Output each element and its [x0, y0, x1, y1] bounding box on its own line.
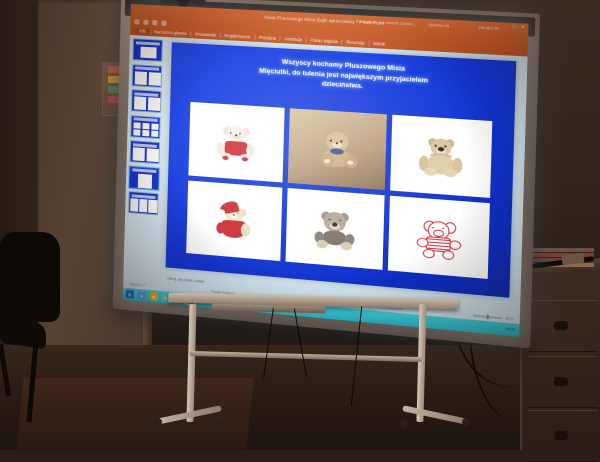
thumb-cell [138, 173, 152, 188]
interactive-whiteboard[interactable]: Swiat Pluszowego Misia Bajki opracowany … [123, 2, 529, 339]
editor-body: Wszyscy kochamy Pluszowego Misia Mięciut… [123, 35, 527, 316]
slide-title[interactable]: Wszyscy kochamy Pluszowego Misia Mięciut… [194, 53, 498, 100]
slide-image-bear-drawing-striped[interactable] [388, 195, 490, 279]
whiteboard-stand [150, 296, 480, 448]
slide-thumb-2[interactable] [132, 64, 163, 88]
thumb-cell [134, 96, 146, 110]
projected-screen[interactable]: Swiat Pluszowego Misia Bajki opracowany … [123, 4, 529, 337]
chair-leg [27, 342, 39, 422]
slide-thumb-3[interactable] [131, 89, 162, 113]
drawer-knob-icon [554, 321, 568, 330]
slide-thumb-6[interactable] [129, 166, 160, 190]
thumb-cell [133, 129, 140, 135]
notes-placeholder[interactable]: Kliknij, aby dodac notatki [167, 277, 204, 284]
slide-image-bear-tan-scarf[interactable] [390, 115, 493, 198]
start-windows-icon[interactable]: ⊞ [126, 290, 134, 299]
caster-wheel [216, 420, 224, 428]
chair-leg [0, 344, 11, 396]
ribbon-tab-wstawianie[interactable]: Wstawianie [191, 31, 221, 38]
slide-thumb-5[interactable] [130, 140, 161, 164]
thumb-cell [142, 122, 149, 128]
office-chair [0, 232, 62, 422]
browser-icon[interactable]: ● [138, 291, 146, 300]
thumb-title-bar [136, 41, 160, 45]
thumb-cell [139, 199, 147, 213]
ribbon-tab-przejscia[interactable]: Przejscia [255, 34, 281, 40]
power-cable [294, 308, 307, 377]
caster-wheel [154, 418, 162, 426]
zoom-level: 66% [506, 316, 514, 321]
slide-counter: Slajd 6 z 7 [129, 282, 145, 287]
stand-leg-left [186, 304, 196, 422]
caster-wheel [462, 418, 470, 426]
room-scene: Swiat Pluszowego Misia Bajki opracowany … [0, 0, 600, 450]
slide-image-bear-santa-hat[interactable] [186, 180, 283, 261]
ribbon-tab-recenzja[interactable]: Recenzja [343, 39, 370, 46]
thumb-title-bar [132, 168, 156, 173]
close-icon[interactable]: ✕ [520, 25, 525, 31]
ribbon-tab-animacje[interactable]: Animacje [281, 35, 307, 42]
power-cable [263, 308, 274, 377]
tell-me-search[interactable]: Powiedz mi, co chcesz zrobic... [356, 18, 416, 26]
slide-stage[interactable]: Wszyscy kochamy Pluszowego Misia Mięciut… [159, 37, 527, 316]
slide-image-bear-white-red-shirt[interactable] [188, 102, 285, 182]
slide-thumb-7[interactable] [128, 191, 159, 215]
slide-thumb-1[interactable] [132, 38, 163, 62]
stand-crossbar [190, 351, 422, 362]
ribbon-tab-pokaz-slajdow[interactable]: Pokaz slajdow [307, 37, 343, 44]
taskbar-clock: 19:42 [506, 327, 516, 332]
redo-icon[interactable] [152, 20, 157, 25]
drawer-knob-icon [554, 377, 568, 386]
thumb-cell [130, 198, 138, 212]
caster-wheel [400, 420, 408, 428]
ribbon-tab-narzedzia-glowne[interactable]: Narzedzia glowne [151, 29, 192, 36]
thumb-cell [133, 122, 140, 128]
thumb-cell [140, 47, 156, 59]
present-icon[interactable] [161, 20, 166, 25]
window-controls[interactable]: − □ ✕ [505, 25, 525, 31]
slide-image-grid [186, 102, 493, 279]
thumb-cell [151, 123, 158, 129]
ribbon-tab-plik[interactable]: Plik [135, 28, 151, 34]
stand-leg-right [416, 304, 426, 422]
minimize-icon[interactable]: − [505, 25, 508, 30]
ribbon-tab-projektowanie[interactable]: Projektowanie [221, 32, 256, 39]
thumb-cell [149, 72, 161, 86]
account-sign-in[interactable]: Zaloguj sie [478, 24, 499, 30]
undo-icon[interactable] [143, 19, 148, 24]
current-slide[interactable]: Wszyscy kochamy Pluszowego Misia Mięciut… [166, 42, 517, 297]
share-button[interactable]: Udostepnij [428, 22, 449, 28]
slide-title-line-3: dzieciństwa. [322, 80, 363, 90]
maximize-icon[interactable]: □ [512, 25, 516, 30]
chair-backrest [0, 232, 60, 322]
thumb-cell [151, 130, 158, 136]
pen-tray-insert[interactable] [212, 304, 326, 314]
thumb-cell [148, 200, 157, 214]
drawer-knob-icon [554, 431, 568, 440]
slide-thumb-4[interactable] [130, 115, 161, 139]
thumb-cell [133, 147, 145, 161]
thumb-cell [135, 71, 147, 85]
save-icon[interactable] [134, 19, 139, 24]
slide-image-bear-group-brown[interactable] [288, 108, 388, 189]
ribbon-tab-widok[interactable]: Widok [369, 40, 389, 46]
thumb-cell [142, 129, 149, 135]
thumb-cell [147, 148, 159, 162]
cabinet-drawer[interactable] [528, 410, 598, 462]
slide-image-bear-grey-brown[interactable] [285, 188, 384, 271]
stand-foot-right [402, 405, 468, 425]
thumb-cell [148, 97, 160, 111]
